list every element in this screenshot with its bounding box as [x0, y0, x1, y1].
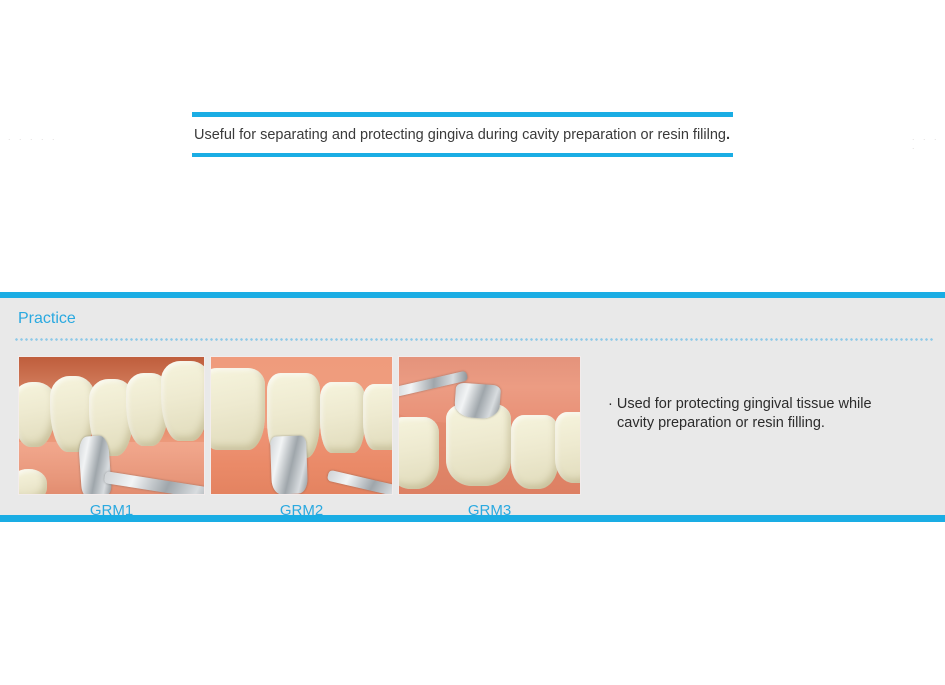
note-line-1: Used for protecting gingival tissue whil…: [617, 396, 872, 412]
photo-grm3: [398, 356, 581, 495]
photo-grm3-tooth-4: [555, 412, 581, 483]
right-edge-dots: . . . .: [912, 133, 945, 151]
photo-grm1-retractor: [78, 435, 112, 495]
figure-caption-grm3: GRM3: [398, 495, 581, 518]
photo-grm2-retractor: [270, 436, 308, 495]
figure-grm2: GRM2: [210, 356, 393, 518]
practice-panel: Practice: [0, 292, 945, 522]
panel-body: Practice: [0, 298, 945, 515]
panel-title: Practice: [0, 298, 945, 327]
note-line-2: cavity preparation or resin filling.: [608, 414, 924, 433]
headline-text: Useful for separating and protecting gin…: [192, 117, 733, 153]
left-edge-dots: . . . . .: [8, 133, 58, 142]
headline-bottom-rule: [192, 153, 733, 157]
photo-grm1-tooth-5: [161, 361, 205, 440]
photo-grm3-retractor-tip: [454, 383, 502, 420]
photo-grm1-scene: [19, 357, 204, 494]
headline-banner: Useful for separating and protecting gin…: [192, 112, 733, 157]
photo-grm1: [18, 356, 205, 495]
figure-caption-grm2: GRM2: [210, 495, 393, 518]
photo-grm2-molar-4: [363, 384, 393, 450]
photo-grm2-scene: [211, 357, 392, 494]
photo-grm3-scene: [399, 357, 580, 494]
headline-period: .: [726, 127, 730, 143]
figure-grm1: GRM1: [18, 356, 205, 518]
photo-grm2: [210, 356, 393, 495]
note-bullet: ·: [608, 396, 613, 412]
photo-grm3-tooth-1: [398, 417, 439, 488]
headline-sentence: Useful for separating and protecting gin…: [194, 127, 726, 143]
photo-grm1-tooth-6: [18, 469, 47, 495]
photo-grm3-tooth-3: [511, 415, 558, 489]
figure-strip: GRM1 GRM2: [18, 356, 581, 518]
photo-grm2-molar-1: [210, 368, 265, 450]
practice-note: · Used for protecting gingival tissue wh…: [608, 395, 924, 433]
figure-caption-grm1: GRM1: [18, 495, 205, 518]
panel-dotted-divider: [14, 338, 935, 341]
figure-grm3: GRM3: [398, 356, 581, 518]
photo-grm2-molar-3: [320, 382, 365, 453]
